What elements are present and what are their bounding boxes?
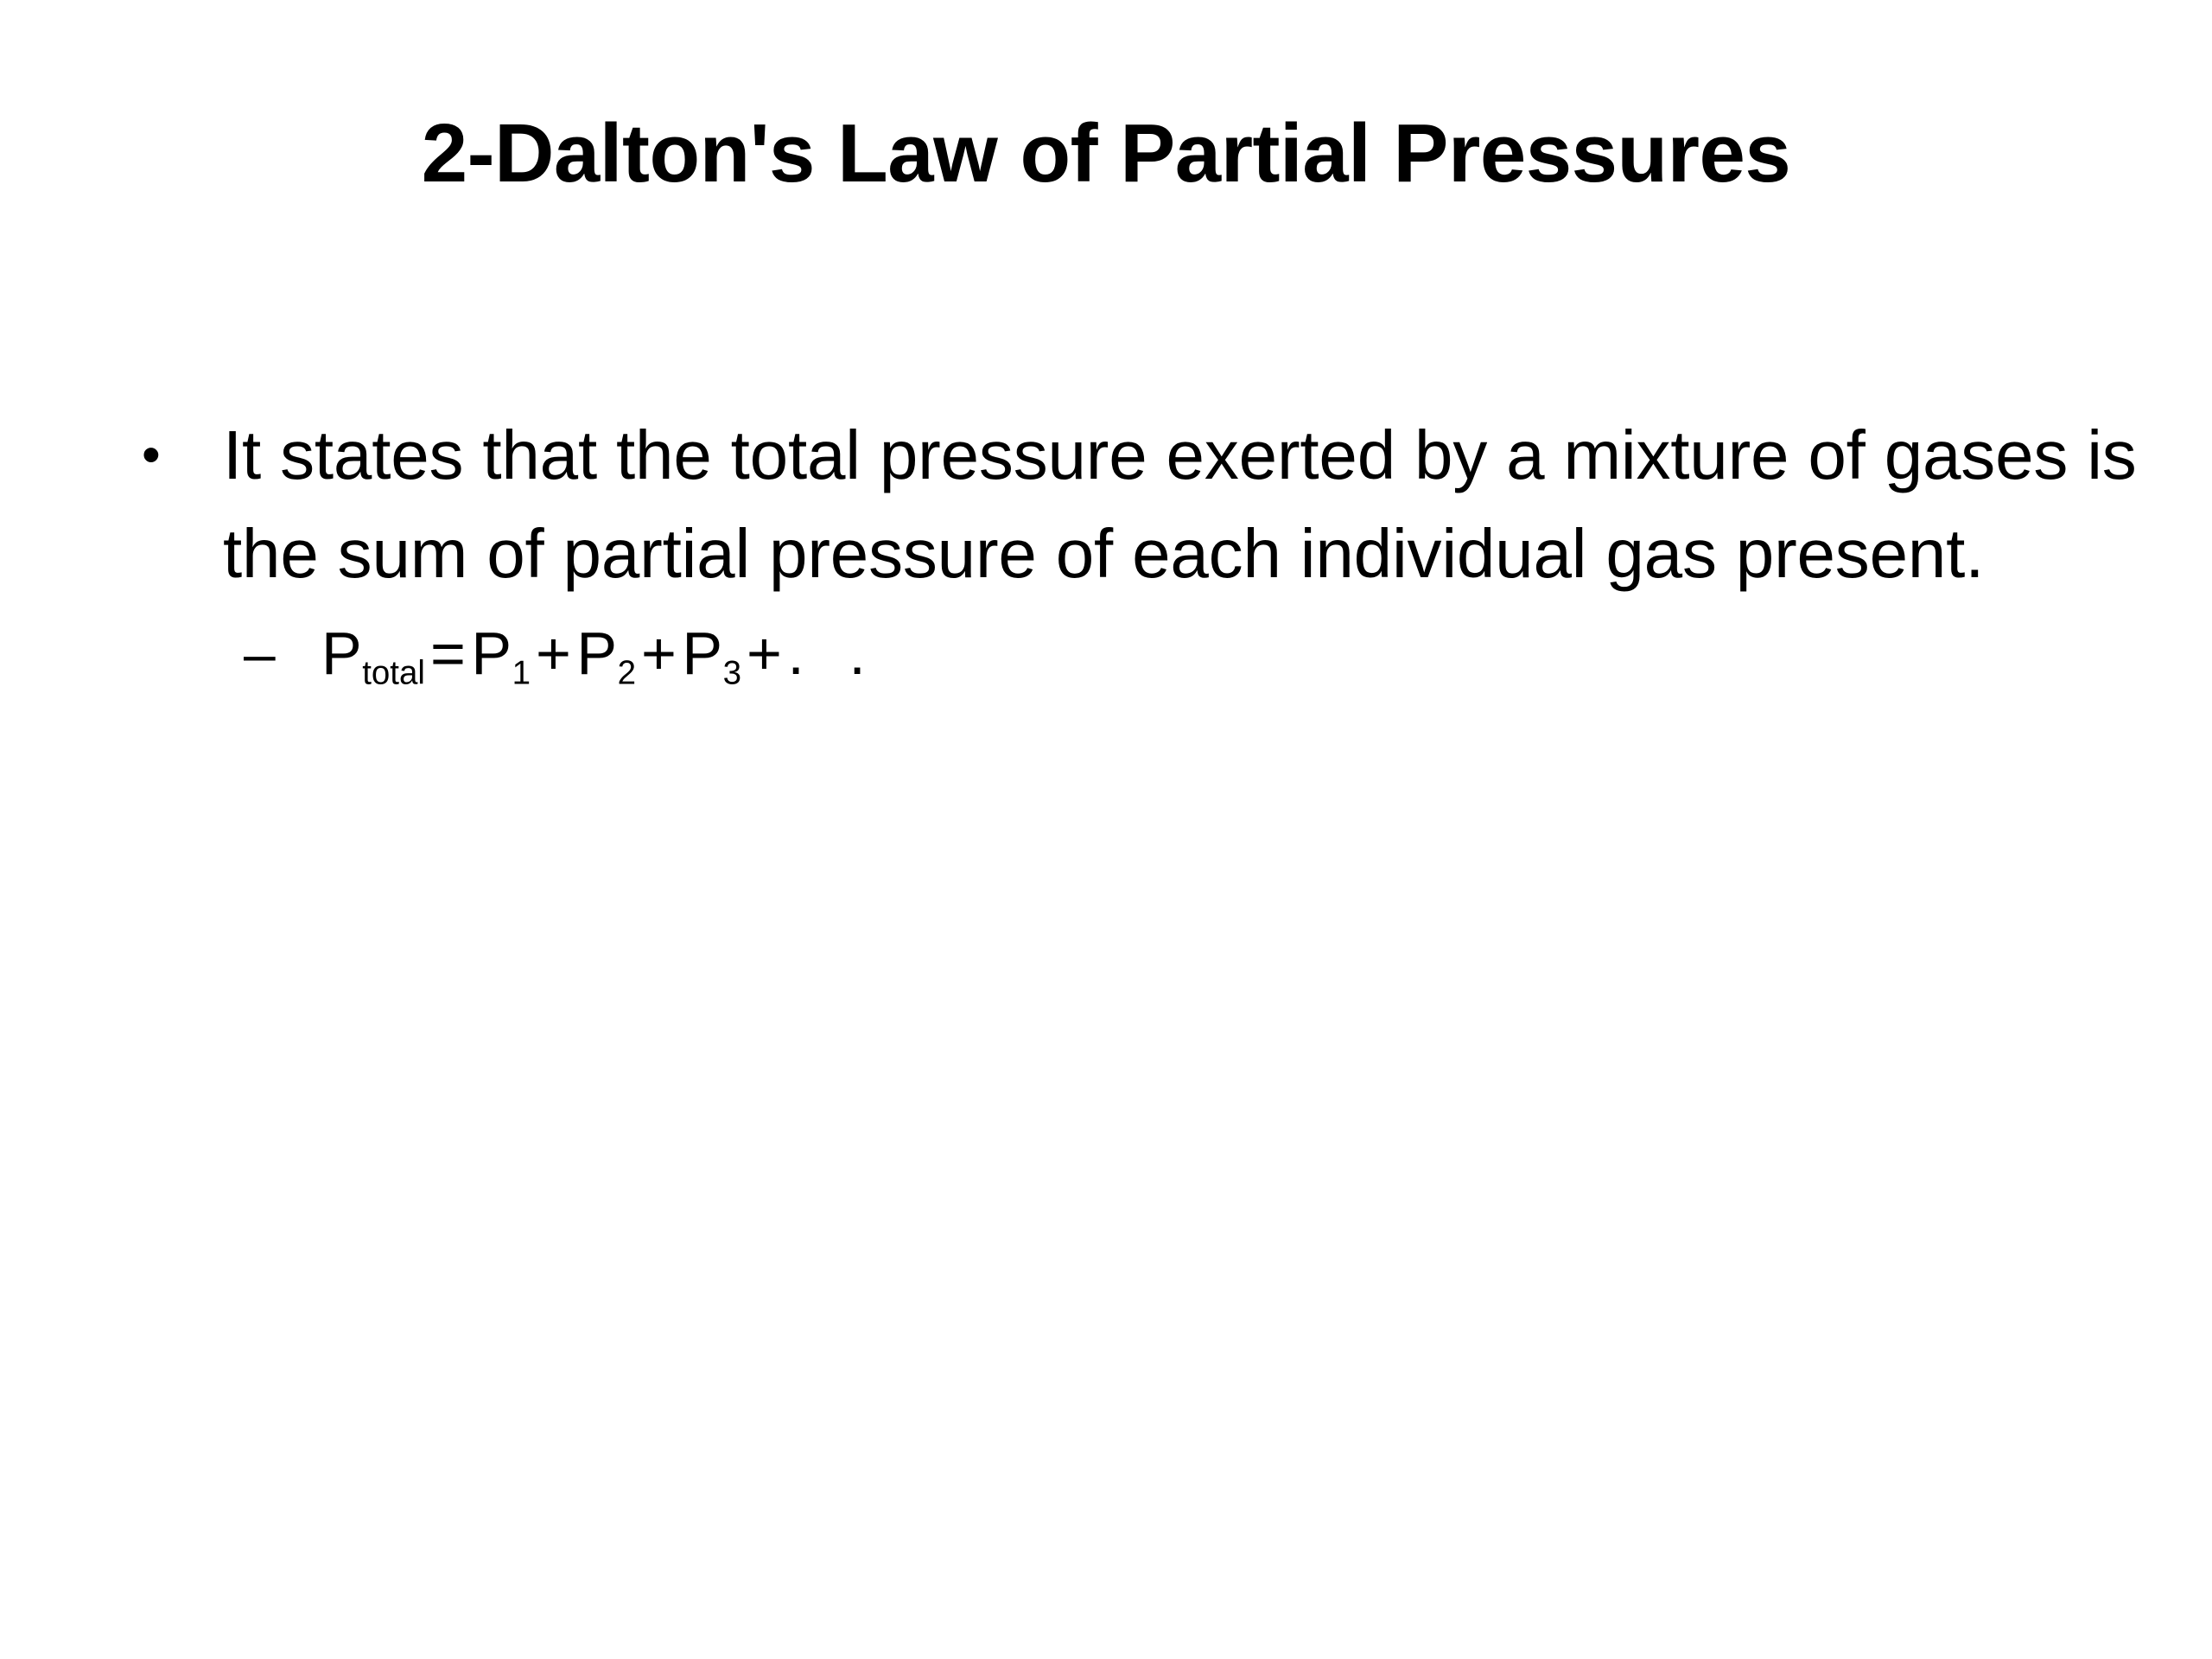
formula-ellipsis: . .	[787, 620, 879, 687]
page-title: 2-Dalton's Law of Partial Pressures	[422, 109, 1791, 199]
formula-equals: =	[425, 620, 471, 687]
bullet-dash-icon: –	[244, 618, 276, 690]
formula-dalton-law: Ptotal=P1+P2+P3+. .	[321, 616, 2143, 692]
formula-term-2-symbol: P	[576, 620, 617, 687]
formula-term-3-symbol: P	[682, 620, 722, 687]
formula-plus-2: +	[636, 620, 682, 687]
body-content: • It states that the total pressure exer…	[130, 406, 2143, 692]
formula-lhs-symbol: P	[321, 620, 362, 687]
formula-term-3-subscript: 3	[723, 655, 741, 692]
formula-term-1-symbol: P	[471, 620, 512, 687]
formula-lhs-subscript: total	[362, 655, 425, 692]
sub-list-item: – Ptotal=P1+P2+P3+. .	[130, 616, 2143, 692]
bullet-paragraph: It states that the total pressure exerte…	[223, 406, 2143, 602]
formula-term-2-subscript: 2	[618, 655, 636, 692]
formula-plus-1: +	[531, 620, 576, 687]
bullet-dot-icon: •	[142, 429, 161, 482]
slide-canvas: 2-Dalton's Law of Partial Pressures • It…	[0, 0, 2212, 1659]
formula-term-1-subscript: 1	[512, 655, 531, 692]
list-item: • It states that the total pressure exer…	[130, 406, 2143, 602]
title-block: 2-Dalton's Law of Partial Pressures	[95, 54, 2117, 254]
formula-plus-3: +	[741, 620, 787, 687]
